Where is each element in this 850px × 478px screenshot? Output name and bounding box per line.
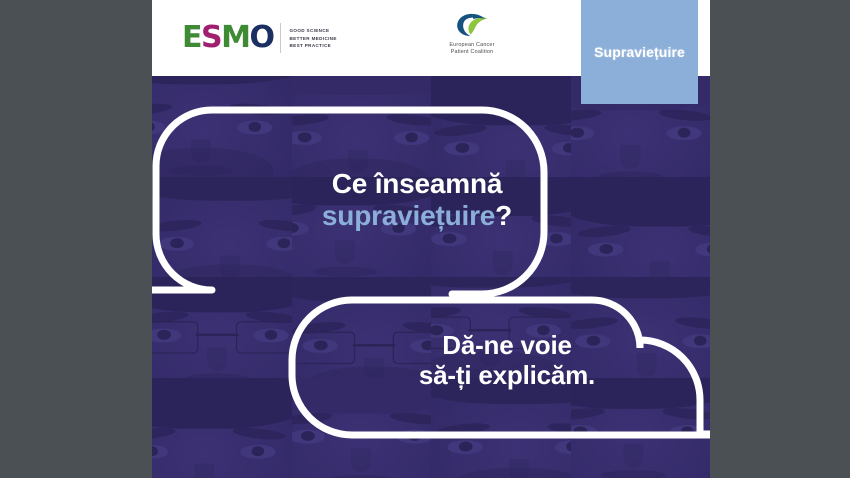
ecpc-text-line-1: European Cancer	[449, 42, 494, 49]
headline-question-mark: ?	[495, 200, 512, 231]
mosaic-cell	[152, 378, 292, 478]
headline-question-line-1: Ce înseamnă	[252, 168, 582, 200]
topic-badge: Supraviețuire	[581, 0, 698, 104]
brochure-cover: E S M O GOOD SCIENCE BETTER MEDICINE BES…	[152, 0, 710, 478]
esmo-tagline-line-1: GOOD SCIENCE	[289, 28, 336, 33]
headline-answer-line-2: să-ți explicăm.	[337, 360, 677, 390]
esmo-letter-e: E	[182, 23, 201, 53]
screenshot-root: E S M O GOOD SCIENCE BETTER MEDICINE BES…	[0, 0, 850, 478]
mosaic-cell	[571, 177, 711, 278]
mosaic-cell	[152, 277, 292, 378]
esmo-wordmark: E S M O	[182, 23, 273, 53]
headline-answer: Dă-ne voie să-ți explicăm.	[337, 330, 677, 390]
mosaic-cell	[292, 378, 432, 478]
esmo-tagline-line-2: BETTER MEDICINE	[289, 36, 336, 41]
esmo-letter-m: M	[221, 23, 249, 53]
ecpc-logo: European Cancer Patient Coalition	[417, 12, 527, 56]
esmo-letter-o: O	[249, 23, 273, 53]
headline-question-line-2: supraviețuire?	[252, 200, 582, 232]
esmo-tagline-line-3: BEST PRACTICE	[289, 43, 336, 48]
headline-answer-line-1: Dă-ne voie	[337, 330, 677, 360]
mosaic-cell	[292, 76, 432, 177]
headline-question-highlight: supraviețuire	[322, 200, 495, 231]
mosaic-cell	[152, 76, 292, 177]
esmo-logo: E S M O GOOD SCIENCE BETTER MEDICINE BES…	[182, 20, 337, 56]
esmo-letter-s: S	[201, 23, 221, 53]
mosaic-cell	[571, 378, 711, 478]
topic-badge-label: Supraviețuire	[594, 44, 685, 60]
headline-question: Ce înseamnă supraviețuire?	[252, 168, 582, 233]
mosaic-cell	[431, 378, 571, 478]
ecpc-logo-text: European Cancer Patient Coalition	[449, 42, 494, 56]
ecpc-mark-icon	[455, 12, 489, 38]
mosaic-cell	[431, 76, 571, 177]
esmo-tagline: GOOD SCIENCE BETTER MEDICINE BEST PRACTI…	[280, 23, 336, 53]
face-mosaic-background	[152, 76, 710, 478]
ecpc-text-line-2: Patient Coalition	[449, 49, 494, 56]
